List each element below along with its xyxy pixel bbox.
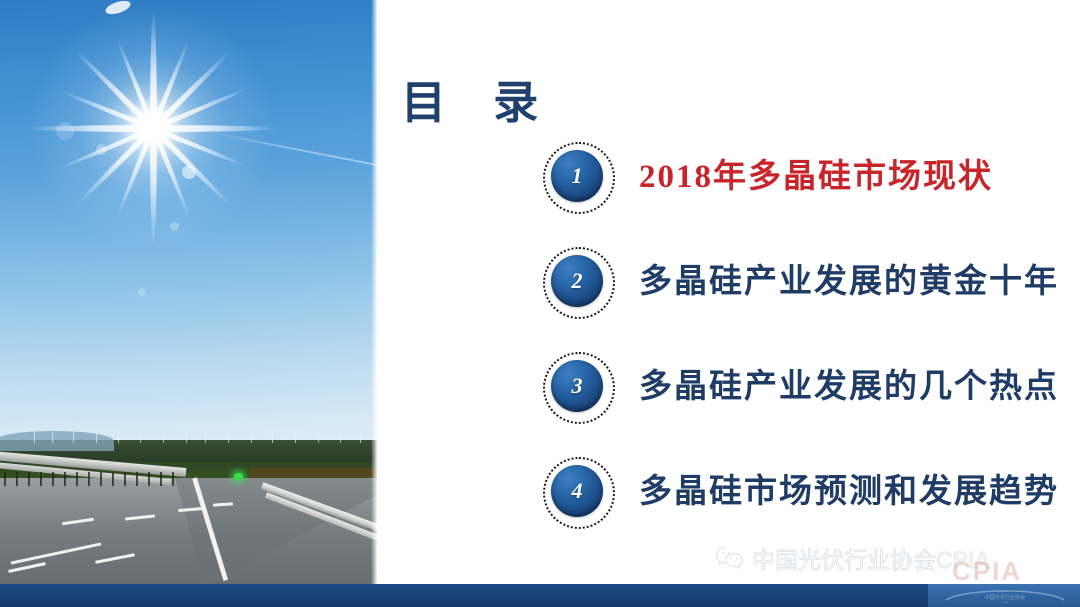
badge-number: 4 xyxy=(551,465,603,517)
lens-flare-icon xyxy=(96,144,107,155)
badge-number: 1 xyxy=(551,150,603,202)
svg-text:CPIA: CPIA xyxy=(1001,601,1008,605)
lens-flare-icon xyxy=(138,288,146,296)
badge-number: 2 xyxy=(551,255,603,307)
badge-number: 3 xyxy=(551,360,603,412)
number-badge-4: 4 xyxy=(542,456,612,526)
page-title: 目 录 xyxy=(401,66,556,131)
number-badge-2: 2 xyxy=(542,246,612,316)
guardrail-posts xyxy=(0,468,190,490)
lens-flare-icon xyxy=(170,222,179,231)
lens-flare-icon xyxy=(182,165,196,179)
hero-photo xyxy=(0,0,377,585)
toc-item-label: 2018年多晶硅市场现状 xyxy=(639,149,993,197)
toc-item-label: 多晶硅产业发展的几个热点 xyxy=(639,359,1059,407)
green-signal-light-icon xyxy=(234,473,243,480)
lens-flare-icon xyxy=(56,122,74,140)
toc-item-3[interactable]: 3 多晶硅产业发展的几个热点 xyxy=(542,343,1077,448)
number-badge-3: 3 xyxy=(542,351,612,421)
toc-item-4[interactable]: 4 多晶硅市场预测和发展趋势 xyxy=(542,448,1077,553)
toc-list: 1 2018年多晶硅市场现状 2 多晶硅产业发展的黄金十年 3 多晶硅产业发展的… xyxy=(542,133,1077,553)
presentation-slide: 目 录 1 2018年多晶硅市场现状 2 多晶硅产业发展的黄金十年 xyxy=(0,0,1080,607)
toc-item-2[interactable]: 2 多晶硅产业发展的黄金十年 xyxy=(542,238,1077,343)
toc-item-label: 多晶硅产业发展的黄金十年 xyxy=(639,254,1059,302)
wind-turbine-icon xyxy=(0,432,377,448)
bottom-bar: 中国光伏行业协会 CPIA xyxy=(0,584,1080,607)
sun-icon xyxy=(152,127,154,129)
toc-item-label: 多晶硅市场预测和发展趋势 xyxy=(639,464,1059,512)
cpia-arc-logo: 中国光伏行业协会 CPIA xyxy=(944,588,1066,604)
content-panel: 目 录 1 2018年多晶硅市场现状 2 多晶硅产业发展的黄金十年 xyxy=(377,0,1080,585)
highway-road xyxy=(0,478,377,585)
toc-item-1[interactable]: 1 2018年多晶硅市场现状 xyxy=(542,133,1077,238)
number-badge-1: 1 xyxy=(542,141,612,211)
